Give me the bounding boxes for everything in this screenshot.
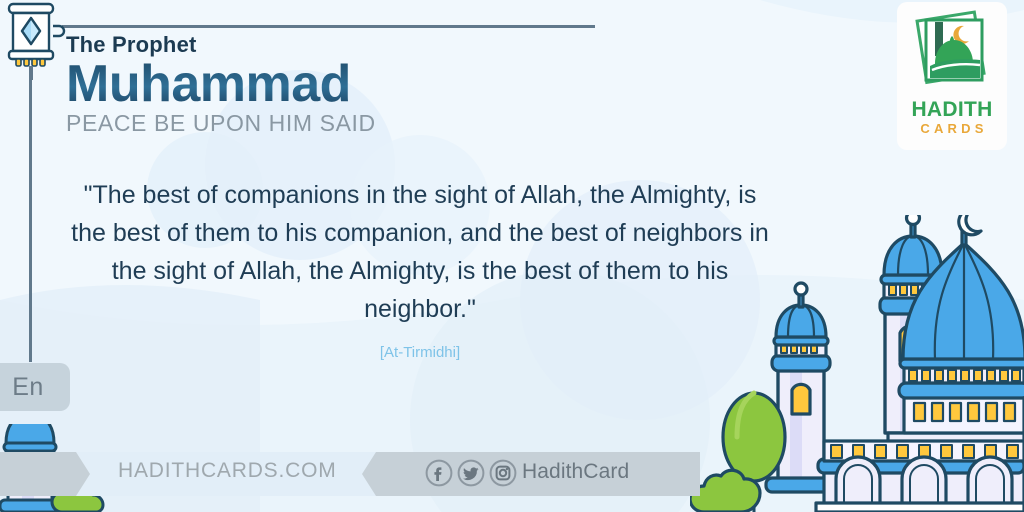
footer-social-icons[interactable] (425, 459, 517, 487)
logo-line-hadith: HADITH (911, 99, 992, 121)
facebook-icon (427, 461, 452, 486)
lantern-icon (4, 2, 70, 80)
instagram-icon (491, 461, 516, 486)
language-badge-label: En (12, 373, 44, 402)
mosque-photo-cards-icon (906, 2, 998, 98)
footer-social-handle[interactable]: HadithCard (522, 460, 629, 484)
header-text-block: The Prophet Muhammad PEACE BE UPON HIM S… (66, 32, 376, 136)
hadith-quote-text: "The best of companions in the sight of … (64, 176, 776, 328)
page-title: Muhammad (66, 56, 376, 112)
language-badge[interactable]: En (0, 363, 70, 411)
logo-line-cards: CARDS (911, 121, 992, 137)
header-horizontal-rule (62, 25, 595, 28)
header-subtitle: PEACE BE UPON HIM SAID (66, 110, 376, 136)
header-vertical-rule (29, 70, 32, 362)
hadith-card: The Prophet Muhammad PEACE BE UPON HIM S… (0, 0, 1024, 512)
footer-website-link[interactable]: HADITHCARDS.COM (118, 459, 337, 483)
hadithcards-logo[interactable]: HADITH CARDS (897, 2, 1007, 150)
twitter-icon (459, 461, 484, 486)
hadith-source-reference: [At-Tirmidhi] (64, 344, 776, 361)
